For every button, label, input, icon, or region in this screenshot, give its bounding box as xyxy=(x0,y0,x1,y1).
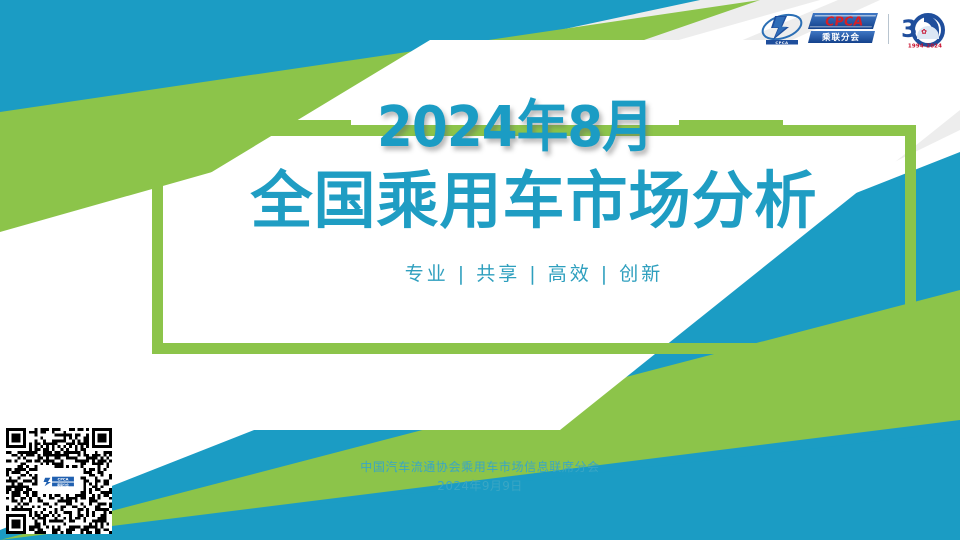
footer-organization: 中国汽车流通协会乘用车市场信息联席分会 xyxy=(0,458,960,477)
headline-rule-right-icon xyxy=(679,120,783,135)
slide-tagline: 专业 | 共享 | 高效 | 创新 xyxy=(405,259,663,286)
cpca-wordmark-icon: CPCA 乘联分会 xyxy=(807,12,879,46)
footer: 中国汽车流通协会乘用车市场信息联席分会 2024年9月9日 xyxy=(0,458,960,495)
headline-rule-left-icon xyxy=(285,120,351,135)
slide-subhead: 全国乘用车市场分析 xyxy=(250,168,817,233)
qr-code[interactable]: CPCA 乘联分会 xyxy=(6,428,112,534)
anniversary-30-logo-icon: ✿ 3 1994-2024 xyxy=(898,8,952,50)
svg-text:✿: ✿ xyxy=(921,28,927,36)
cpca-logo: CPCA CPCA 乘联分会 xyxy=(760,12,879,46)
logo-divider xyxy=(888,14,889,44)
cpca-emblem-icon: CPCA xyxy=(760,12,804,46)
slide-headline: 2024年8月 xyxy=(377,99,653,156)
cpca-logo-lockup: CPCA CPCA 乘联分会 xyxy=(760,7,952,51)
headline-row: 2024年8月 xyxy=(152,99,916,156)
qr-center-logo-icon: CPCA 乘联分会 xyxy=(41,474,77,489)
footer-date: 2024年9月9日 xyxy=(0,477,960,496)
svg-text:乘联分会: 乘联分会 xyxy=(56,481,69,486)
presentation-slide: 2024年8月 全国乘用车市场分析 专业 | 共享 | 高效 | 创新 CPCA xyxy=(0,0,960,540)
svg-text:CPCA: CPCA xyxy=(57,477,68,481)
title-block: 2024年8月 全国乘用车市场分析 专业 | 共享 | 高效 | 创新 xyxy=(152,125,916,354)
svg-text:CPCA: CPCA xyxy=(775,41,788,45)
svg-text:乘联分会: 乘联分会 xyxy=(821,32,860,43)
svg-text:1994-2024: 1994-2024 xyxy=(908,44,942,50)
svg-text:CPCA: CPCA xyxy=(824,14,864,29)
svg-text:3: 3 xyxy=(901,15,918,43)
